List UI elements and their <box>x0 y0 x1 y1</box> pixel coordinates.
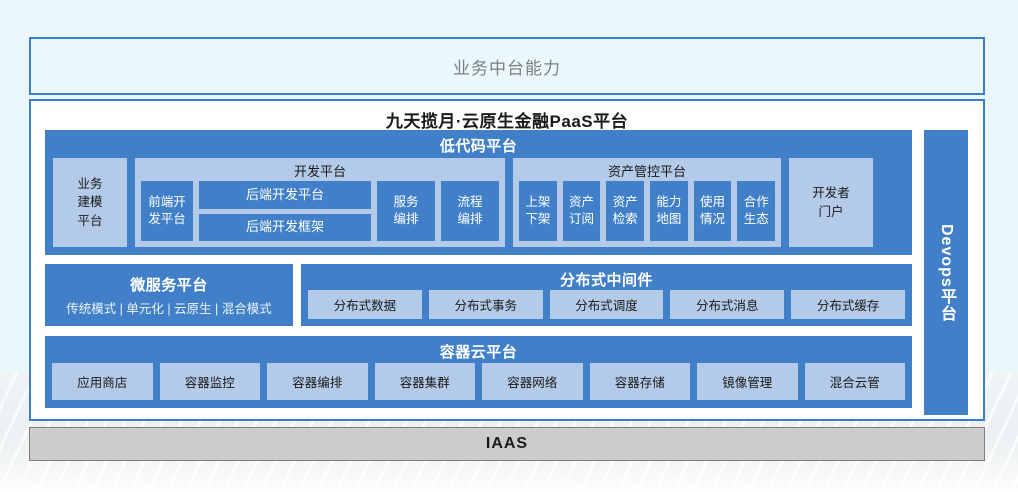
container-cloud-row: 应用商店 容器监控 容器编排 容器集群 容器网络 容器存储 镜像管理 混合云管 <box>52 363 905 400</box>
service-orchestration-line-2: 编排 <box>393 211 418 229</box>
asset-management-title: 资产管控平台 <box>513 158 781 180</box>
paas-platform-title: 九天揽月·云原生金融PaaS平台 <box>31 107 983 132</box>
container-item-cluster[interactable]: 容器集群 <box>375 363 476 400</box>
container-item-monitoring[interactable]: 容器监控 <box>160 363 261 400</box>
dev-platform-group: 开发平台 前端开 发平台 后端开发平台 后端开发框架 服务 <box>135 158 505 247</box>
microservice-platform-modes: 传统模式 | 单元化 | 云原生 | 混合模式 <box>66 298 272 317</box>
middleware-item-message[interactable]: 分布式消息 <box>670 290 784 319</box>
asset-item-listing-line-1: 上架 <box>525 194 550 212</box>
frontend-dev-platform-box[interactable]: 前端开 发平台 <box>141 181 193 241</box>
middleware-item-transaction[interactable]: 分布式事务 <box>429 290 543 319</box>
business-middle-platform-band: 业务中台能力 <box>29 37 985 95</box>
asset-item-search-line-2: 检索 <box>613 211 638 229</box>
container-item-storage[interactable]: 容器存储 <box>590 363 691 400</box>
frontend-dev-line-2: 发平台 <box>148 211 186 229</box>
asset-item-capability-map[interactable]: 能力 地图 <box>650 181 688 241</box>
lowcode-platform-title: 低代码平台 <box>45 130 912 156</box>
asset-item-subscription[interactable]: 资产 订阅 <box>563 181 601 241</box>
process-orchestration-line-2: 编排 <box>457 211 482 229</box>
asset-item-usage-line-2: 情况 <box>700 211 725 229</box>
middleware-section: 分布式中间件 分布式数据 分布式事务 分布式调度 分布式消息 分布式缓存 <box>301 264 912 326</box>
dev-platform-body: 前端开 发平台 后端开发平台 后端开发框架 服务 编排 <box>141 181 499 241</box>
middleware-item-scheduling[interactable]: 分布式调度 <box>550 290 664 319</box>
asset-management-body: 上架 下架 资产 订阅 资产 检索 <box>519 181 775 241</box>
middleware-row: 分布式数据 分布式事务 分布式调度 分布式消息 分布式缓存 <box>308 290 905 319</box>
business-modeling-line-3: 平台 <box>77 212 102 230</box>
asset-item-ecosystem-line-1: 合作 <box>744 194 769 212</box>
process-orchestration-line-1: 流程 <box>457 194 482 212</box>
container-cloud-section: 容器云平台 应用商店 容器监控 容器编排 容器集群 容器网络 容器存储 镜像管理… <box>45 336 912 408</box>
devops-platform-bar[interactable]: Devops平台 <box>924 130 968 415</box>
microservice-platform-section[interactable]: 微服务平台 传统模式 | 单元化 | 云原生 | 混合模式 <box>45 264 293 326</box>
asset-item-search[interactable]: 资产 检索 <box>606 181 644 241</box>
container-item-network[interactable]: 容器网络 <box>482 363 583 400</box>
asset-item-ecosystem[interactable]: 合作 生态 <box>737 181 775 241</box>
container-item-image-management[interactable]: 镜像管理 <box>697 363 798 400</box>
container-item-hybrid-cloud[interactable]: 混合云管 <box>805 363 906 400</box>
devops-platform-label: Devops平台 <box>934 224 958 322</box>
service-orchestration-box[interactable]: 服务 编排 <box>377 181 435 241</box>
developer-portal-line-1: 开发者 <box>812 184 850 202</box>
business-modeling-line-1: 业务 <box>77 175 102 193</box>
lowcode-platform-row: 业务 建模 平台 开发平台 前端开 发平台 后端开发平台 <box>53 158 904 247</box>
container-item-orchestration[interactable]: 容器编排 <box>267 363 368 400</box>
asset-item-ecosystem-line-2: 生态 <box>744 211 769 229</box>
asset-item-search-line-1: 资产 <box>613 194 638 212</box>
business-modeling-line-2: 建模 <box>77 193 102 211</box>
iaas-label: IAAS <box>486 435 528 453</box>
asset-management-group: 资产管控平台 上架 下架 资产 订阅 <box>513 158 781 247</box>
asset-item-listing-line-2: 下架 <box>525 211 550 229</box>
asset-item-capability-map-line-2: 地图 <box>656 211 681 229</box>
asset-item-subscription-line-1: 资产 <box>569 194 594 212</box>
process-orchestration-box[interactable]: 流程 编排 <box>441 181 499 241</box>
middleware-item-data[interactable]: 分布式数据 <box>308 290 422 319</box>
frontend-dev-line-1: 前端开 <box>148 194 186 212</box>
architecture-diagram: 业务中台能力 九天揽月·云原生金融PaaS平台 低代码平台 业务 建模 平台 开… <box>0 0 1018 492</box>
middleware-item-cache[interactable]: 分布式缓存 <box>791 290 905 319</box>
dev-platform-title: 开发平台 <box>135 158 505 180</box>
microservice-platform-title: 微服务平台 <box>130 274 208 295</box>
asset-item-listing[interactable]: 上架 下架 <box>519 181 557 241</box>
container-cloud-title: 容器云平台 <box>45 336 912 362</box>
middleware-title: 分布式中间件 <box>301 264 912 290</box>
asset-item-subscription-line-2: 订阅 <box>569 211 594 229</box>
backend-dev-framework-box[interactable]: 后端开发框架 <box>199 214 371 242</box>
developer-portal-line-2: 门户 <box>812 203 850 221</box>
business-modeling-platform-box[interactable]: 业务 建模 平台 <box>53 158 127 247</box>
asset-item-capability-map-line-1: 能力 <box>656 194 681 212</box>
lowcode-platform-section: 低代码平台 业务 建模 平台 开发平台 前端开 发平台 <box>45 130 912 255</box>
backend-dev-stack: 后端开发平台 后端开发框架 <box>199 181 371 241</box>
container-item-app-store[interactable]: 应用商店 <box>52 363 153 400</box>
business-middle-platform-label: 业务中台能力 <box>453 54 561 79</box>
service-orchestration-line-1: 服务 <box>393 194 418 212</box>
asset-item-usage[interactable]: 使用 情况 <box>694 181 732 241</box>
developer-portal-box[interactable]: 开发者 门户 <box>789 158 873 247</box>
iaas-band: IAAS <box>29 427 985 461</box>
backend-dev-platform-box[interactable]: 后端开发平台 <box>199 181 371 209</box>
asset-item-usage-line-1: 使用 <box>700 194 725 212</box>
